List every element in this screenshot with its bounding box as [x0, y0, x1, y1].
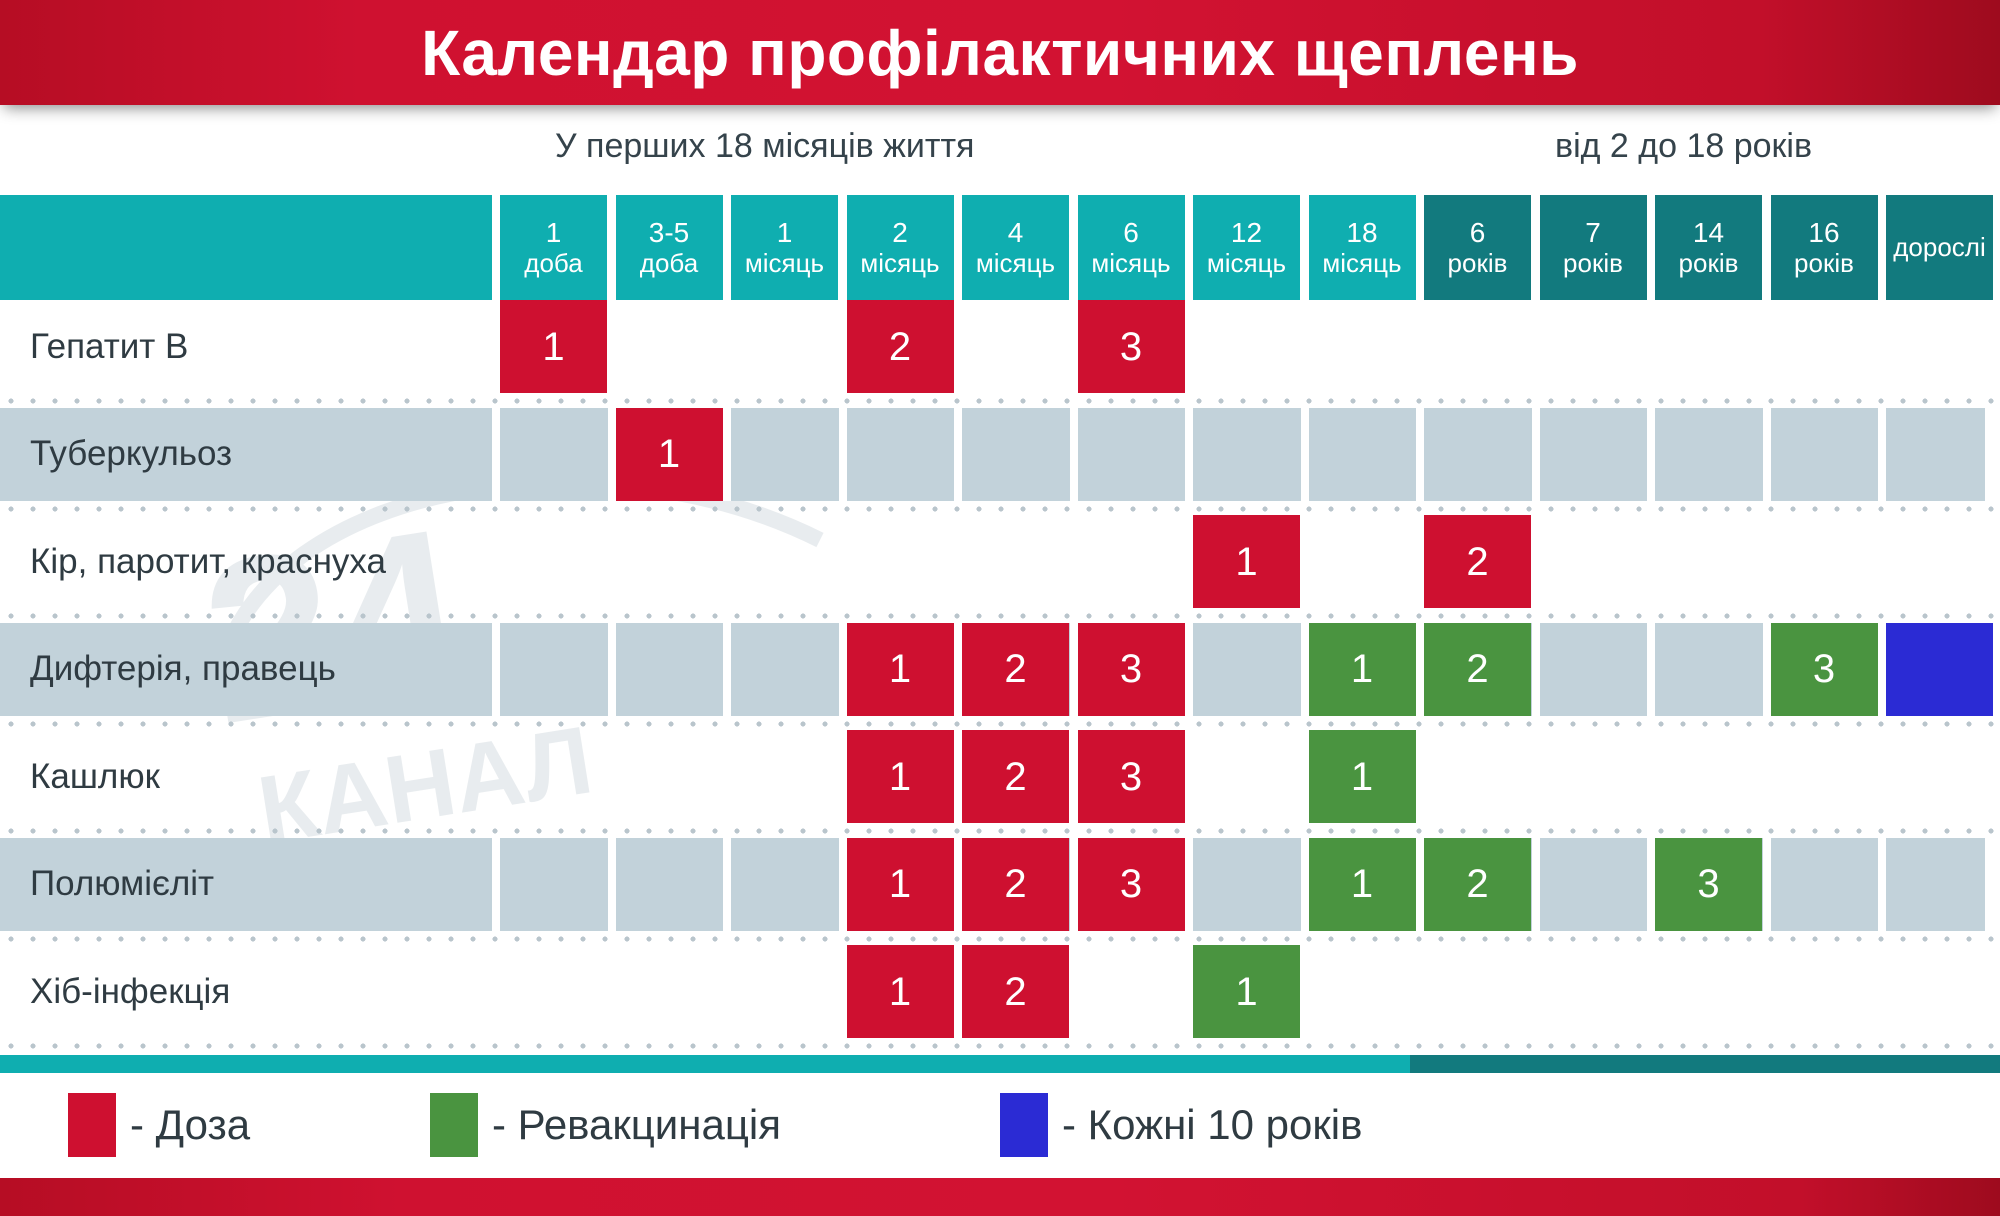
column-gutter — [1532, 623, 1540, 716]
column-header-unit: років — [1679, 249, 1739, 278]
cell-number: 1 — [1193, 515, 1300, 608]
column-header-number: 1 — [777, 217, 793, 248]
column-header-6: 12місяць — [1193, 195, 1300, 300]
column-gutter — [608, 838, 616, 931]
row-separator — [0, 609, 2000, 619]
column-gutter — [492, 408, 500, 501]
row-label: Хіб-інфекція — [30, 945, 230, 1038]
legend-item-revaccination: - Ревакцинація — [430, 1091, 781, 1159]
cell-dose[interactable]: 3 — [1078, 730, 1185, 823]
column-gutter — [1532, 408, 1540, 501]
cell-number: 1 — [847, 730, 954, 823]
cell-number: 1 — [847, 945, 954, 1038]
column-gutter — [1532, 838, 1540, 931]
cell-dose[interactable]: 2 — [962, 945, 1069, 1038]
cell-revaccination[interactable]: 2 — [1424, 838, 1531, 931]
column-gutter — [1878, 623, 1886, 716]
column-gutter — [1647, 408, 1655, 501]
cell-revaccination[interactable]: 2 — [1424, 623, 1531, 716]
cell-number: 2 — [962, 623, 1069, 716]
column-header-0: 1доба — [500, 195, 607, 300]
row-label: Кашлюк — [30, 730, 160, 823]
footer-accent-light — [0, 1055, 1410, 1073]
table-row: Хіб-інфекція121 — [0, 945, 2000, 1038]
row-label: Дифтерія, правець — [30, 623, 336, 716]
column-header-unit: місяць — [745, 249, 824, 278]
row-separator — [0, 394, 2000, 404]
column-header-unit: місяць — [1091, 249, 1170, 278]
legend-label: - Доза — [130, 1101, 250, 1149]
cell-dose[interactable]: 1 — [616, 408, 723, 501]
cell-dose[interactable]: 1 — [847, 730, 954, 823]
cell-dose[interactable]: 2 — [962, 730, 1069, 823]
cell-number: 2 — [962, 838, 1069, 931]
column-header-row: 1доба3-5доба1місяць2місяць4місяць6місяць… — [0, 195, 2000, 300]
column-header-number: 3-5 — [649, 217, 689, 248]
column-gutter — [1994, 623, 2000, 716]
cell-number: 3 — [1078, 730, 1185, 823]
subtitle-first-18-months: У перших 18 місяців життя — [555, 127, 974, 166]
legend-label: - Кожні 10 років — [1062, 1101, 1362, 1149]
column-gutter — [839, 838, 847, 931]
cell-revaccination[interactable]: 1 — [1309, 838, 1416, 931]
cell-number: 3 — [1655, 838, 1762, 931]
cell-number: 1 — [1309, 623, 1416, 716]
column-gutter — [1185, 838, 1193, 931]
cell-every-10-years[interactable] — [1886, 623, 1993, 716]
column-gutter — [954, 838, 962, 931]
vaccination-calendar-table: 1доба3-5доба1місяць2місяць4місяць6місяць… — [0, 195, 2000, 1055]
row-separator — [0, 717, 2000, 727]
table-row: Гепатит В123 — [0, 300, 2000, 393]
column-gutter — [1994, 838, 2000, 931]
table-row: Дифтерія, правець123123 — [0, 623, 2000, 716]
cell-number: 3 — [1078, 623, 1185, 716]
legend-swatch — [430, 1093, 478, 1157]
column-header-unit: дорослі — [1893, 233, 1986, 262]
subtitle-row: У перших 18 місяців життя від 2 до 18 ро… — [0, 105, 2000, 195]
row-separator — [0, 932, 2000, 942]
footer-accent-bar — [0, 1055, 2000, 1073]
column-header-unit: місяць — [1207, 249, 1286, 278]
column-header-2: 1місяць — [731, 195, 838, 300]
cell-revaccination[interactable]: 3 — [1771, 623, 1878, 716]
column-header-5: 6місяць — [1078, 195, 1185, 300]
row-label: Туберкульоз — [30, 408, 232, 501]
cell-number: 3 — [1771, 623, 1878, 716]
cell-dose[interactable]: 1 — [847, 838, 954, 931]
column-gutter — [723, 623, 731, 716]
legend-swatch — [68, 1093, 116, 1157]
column-gutter — [492, 623, 500, 716]
column-header-9: 7років — [1540, 195, 1647, 300]
table-row: Кір, паротит, краснуха12 — [0, 515, 2000, 608]
cell-number: 3 — [1078, 300, 1185, 393]
cell-number: 1 — [847, 838, 954, 931]
column-gutter — [1416, 838, 1424, 931]
header-corner-block — [0, 195, 492, 300]
column-gutter — [1301, 623, 1309, 716]
column-gutter — [1070, 838, 1078, 931]
cell-number: 2 — [962, 945, 1069, 1038]
column-header-unit: місяць — [860, 249, 939, 278]
column-gutter — [839, 623, 847, 716]
column-header-3: 2місяць — [847, 195, 954, 300]
column-header-number: 6 — [1123, 217, 1139, 248]
row-background — [0, 300, 1985, 393]
subtitle-2-to-18-years: від 2 до 18 років — [1555, 127, 1812, 166]
bottom-accent-bar — [0, 1178, 2000, 1216]
cell-number: 1 — [1309, 838, 1416, 931]
column-gutter — [1416, 623, 1424, 716]
row-separator — [0, 502, 2000, 512]
cell-dose[interactable]: 3 — [1078, 300, 1185, 393]
cell-dose[interactable]: 2 — [847, 300, 954, 393]
row-background — [0, 408, 1985, 501]
column-header-number: 12 — [1231, 217, 1262, 248]
cell-number: 3 — [1078, 838, 1185, 931]
column-header-number: 18 — [1346, 217, 1377, 248]
cell-dose[interactable]: 1 — [500, 300, 607, 393]
row-label: Кір, паротит, краснуха — [30, 515, 386, 608]
column-header-unit: місяць — [1322, 249, 1401, 278]
cell-revaccination[interactable]: 3 — [1655, 838, 1762, 931]
column-header-unit: років — [1448, 249, 1508, 278]
cell-dose[interactable]: 1 — [1193, 515, 1300, 608]
legend-swatch — [1000, 1093, 1048, 1157]
cell-dose[interactable]: 2 — [962, 623, 1069, 716]
cell-dose[interactable]: 2 — [962, 838, 1069, 931]
column-gutter — [723, 408, 731, 501]
column-gutter — [723, 838, 731, 931]
table-row: Полюмієліт123123 — [0, 838, 2000, 931]
row-label: Гепатит В — [30, 300, 188, 393]
column-gutter — [1763, 623, 1771, 716]
legend-label: - Ревакцинація — [492, 1101, 781, 1149]
column-header-unit: років — [1563, 249, 1623, 278]
column-header-number: 7 — [1585, 217, 1601, 248]
cell-revaccination[interactable]: 1 — [1193, 945, 1300, 1038]
column-gutter — [608, 623, 616, 716]
column-gutter — [839, 408, 847, 501]
cell-number: 1 — [1193, 945, 1300, 1038]
column-header-unit: доба — [640, 249, 698, 278]
legend: - Доза- Ревакцинація- Кожні 10 років — [0, 1073, 2000, 1178]
column-header-unit: доба — [524, 249, 582, 278]
column-header-8: 6років — [1424, 195, 1531, 300]
column-header-number: 4 — [1008, 217, 1024, 248]
column-gutter — [1647, 838, 1655, 931]
row-separator — [0, 824, 2000, 834]
column-gutter — [1185, 623, 1193, 716]
cell-number: 1 — [1309, 730, 1416, 823]
column-header-number: 6 — [1470, 217, 1486, 248]
column-gutter — [492, 838, 500, 931]
cell-dose[interactable]: 1 — [847, 623, 954, 716]
column-gutter — [608, 408, 616, 501]
column-header-unit: років — [1794, 249, 1854, 278]
column-header-unit: місяць — [976, 249, 1055, 278]
column-header-number: 2 — [892, 217, 908, 248]
column-gutter — [1070, 623, 1078, 716]
legend-item-dose: - Доза — [68, 1091, 250, 1159]
column-gutter — [1301, 408, 1309, 501]
cell-number: 2 — [847, 300, 954, 393]
cell-number: 2 — [1424, 515, 1531, 608]
cell-number: 1 — [500, 300, 607, 393]
column-header-number: 16 — [1808, 217, 1839, 248]
column-gutter — [1647, 623, 1655, 716]
row-label: Полюмієліт — [30, 838, 214, 931]
cell-number: 1 — [847, 623, 954, 716]
column-header-4: 4місяць — [962, 195, 1069, 300]
cell-number: 1 — [616, 408, 723, 501]
cell-dose[interactable]: 3 — [1078, 838, 1185, 931]
column-gutter — [1070, 408, 1078, 501]
table-row: Кашлюк1231 — [0, 730, 2000, 823]
column-gutter — [1878, 838, 1886, 931]
column-gutter — [1878, 408, 1886, 501]
column-header-number: 14 — [1693, 217, 1724, 248]
cell-number: 2 — [1424, 838, 1531, 931]
cell-dose[interactable]: 2 — [1424, 515, 1531, 608]
column-gutter — [954, 408, 962, 501]
column-header-7: 18місяць — [1309, 195, 1416, 300]
column-gutter — [1763, 838, 1771, 931]
column-gutter — [1301, 838, 1309, 931]
column-header-10: 14років — [1655, 195, 1762, 300]
cell-number: 2 — [1424, 623, 1531, 716]
column-header-12: дорослі — [1886, 195, 1993, 300]
column-gutter — [1994, 408, 2000, 501]
column-header-number: 1 — [546, 217, 562, 248]
column-header-11: 16років — [1771, 195, 1878, 300]
legend-item-every-10-years: - Кожні 10 років — [1000, 1091, 1362, 1159]
column-gutter — [1185, 408, 1193, 501]
column-gutter — [954, 623, 962, 716]
footer-accent-dark — [1410, 1055, 2000, 1073]
row-separator — [0, 1039, 2000, 1049]
cell-dose[interactable]: 3 — [1078, 623, 1185, 716]
column-header-1: 3-5доба — [616, 195, 723, 300]
page-title: Календар профілактичних щеплень — [421, 21, 1579, 85]
table-body: Гепатит В123Туберкульоз1Кір, паротит, кр… — [0, 300, 2000, 1055]
cell-number: 2 — [962, 730, 1069, 823]
cell-revaccination[interactable]: 1 — [1309, 730, 1416, 823]
cell-dose[interactable]: 1 — [847, 945, 954, 1038]
column-gutter — [1416, 408, 1424, 501]
table-row: Туберкульоз1 — [0, 408, 2000, 501]
title-bar: Календар профілактичних щеплень — [0, 0, 2000, 105]
cell-revaccination[interactable]: 1 — [1309, 623, 1416, 716]
column-gutter — [1763, 408, 1771, 501]
